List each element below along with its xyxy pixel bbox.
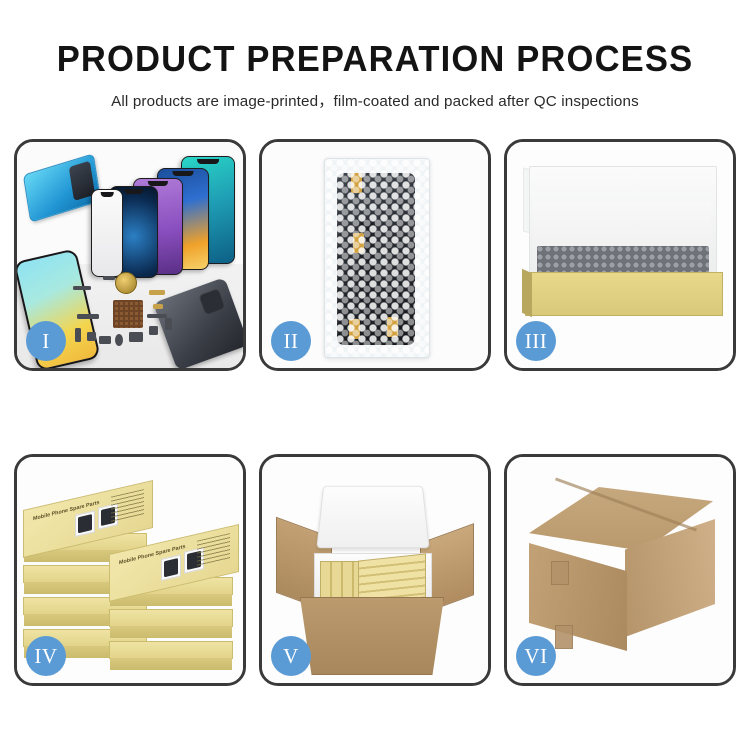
coil-part-icon [115,272,137,294]
carton-tape-tab [551,561,569,585]
notch-icon [173,171,194,176]
page-subtitle: All products are image-printed，film-coat… [0,89,750,111]
stacked-box [109,609,233,627]
screen-protector-icon [23,153,101,223]
step-badge-1: I [26,321,66,361]
process-step-panel-2[interactable]: II [259,139,491,371]
yellow-box-tray [525,272,723,316]
screen-swatch [164,558,178,577]
page-title: PRODUCT PREPARATION PROCESS [15,40,735,78]
bubble-wrap-bag [324,158,430,358]
screen-swatch [78,514,92,533]
step-badge-5: V [271,636,311,676]
box-side [110,626,232,638]
carton-tape-tab [555,625,573,649]
phone-lineup [95,156,245,274]
process-step-panel-3[interactable]: III [504,139,736,371]
bubble-texture-overlay [325,159,429,357]
notch-icon [101,192,114,197]
process-step-panel-1[interactable]: I [14,139,246,371]
stacked-box [109,641,233,659]
box-spec-lines [197,533,230,567]
yellow-boxes-row [358,553,426,604]
shipping-carton-open [300,597,444,675]
box-window [161,554,181,581]
process-step-grid: I II III [14,139,736,686]
process-step-panel-6[interactable]: VI [504,454,736,686]
page-header: PRODUCT PREPARATION PROCESS All products… [0,0,750,111]
step-badge-4: IV [26,636,66,676]
chip-part-icon [113,300,143,328]
spare-parts-cluster [73,270,203,358]
foam-lid-open [316,486,429,548]
notch-icon [124,189,144,194]
box-side [110,658,232,670]
notch-icon [197,159,219,164]
process-step-panel-4[interactable]: Mobile Phone Spare Parts Mobile Phone Sp… [14,454,246,686]
step-badge-6: VI [516,636,556,676]
phone-glass-panel [91,189,123,277]
box-window [75,510,95,537]
box-spec-lines [111,489,144,523]
process-step-panel-5[interactable]: V [259,454,491,686]
carton-front-face [529,543,627,651]
step-badge-2: II [271,321,311,361]
step-badge-3: III [516,321,556,361]
